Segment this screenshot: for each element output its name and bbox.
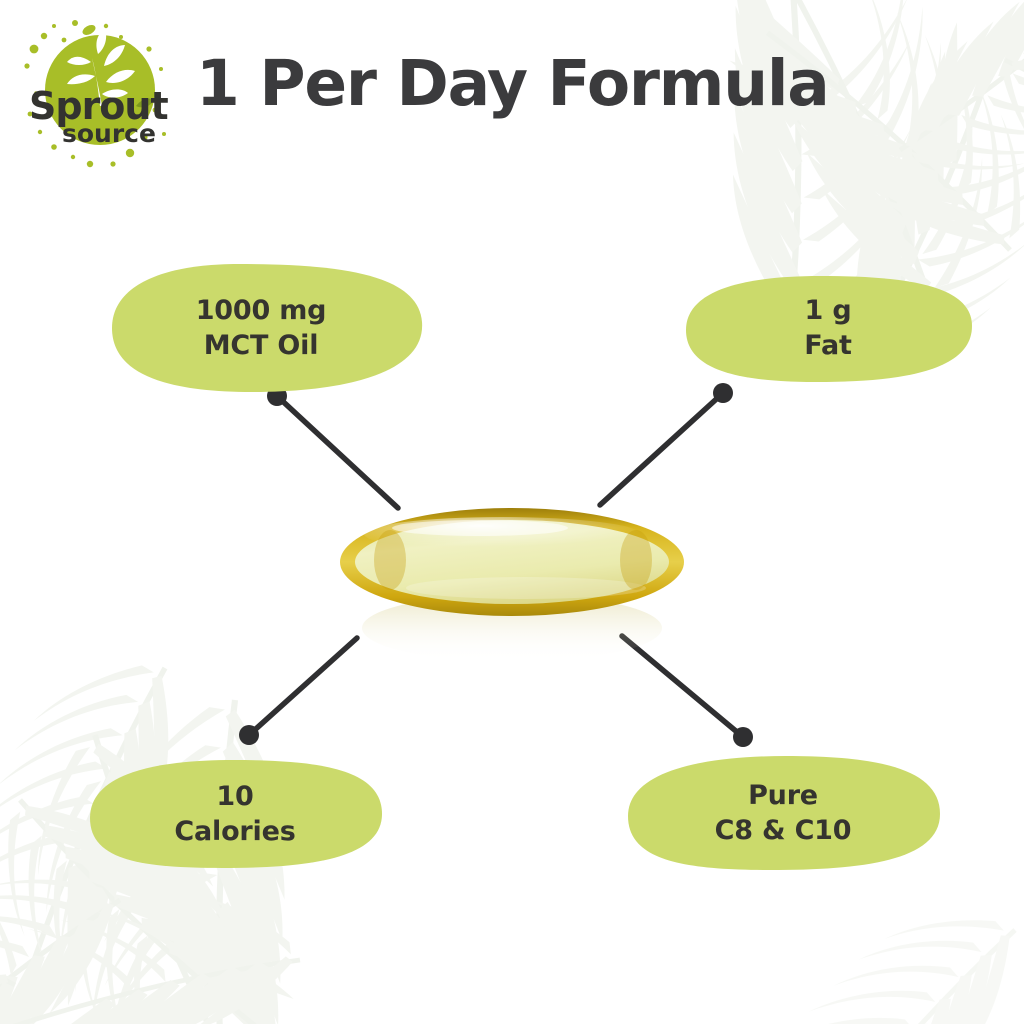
connector-dot-pure [733,727,753,747]
callout-line2: MCT Oil [196,328,327,363]
page-title: 1 Per Day Formula [196,52,829,115]
softgel-capsule [330,500,694,670]
callout-text-fat: 1 g Fat [804,293,851,363]
callout-bubble-mct-oil[interactable]: 1000 mg MCT Oil [96,262,426,394]
callout-text-pure: Pure C8 & C10 [715,778,852,848]
callout-line1: 1000 mg [196,293,327,328]
callout-line1: 10 [174,779,295,814]
infographic-canvas: Sprout source 1 Per Day Formula 1000 mg … [0,0,1024,1024]
connector-dot-calories [239,725,259,745]
callout-line2: C8 & C10 [715,813,852,848]
callout-text-mct-oil: 1000 mg MCT Oil [196,293,327,363]
callout-text-calories: 10 Calories [174,779,295,849]
callout-bubble-calories[interactable]: 10 Calories [82,756,388,872]
callout-line1: 1 g [804,293,851,328]
logo-word-source: source [62,119,156,148]
callout-line1: Pure [715,778,852,813]
callout-line2: Calories [174,814,295,849]
connector-line-fat [600,393,723,505]
callout-bubble-fat[interactable]: 1 g Fat [680,272,976,384]
connector-line-mct-oil [277,396,398,508]
callout-line2: Fat [804,328,851,363]
callout-bubble-pure-c8-c10[interactable]: Pure C8 & C10 [620,752,946,874]
sprout-source-logo[interactable]: Sprout source [18,14,178,174]
connector-dot-fat [713,383,733,403]
